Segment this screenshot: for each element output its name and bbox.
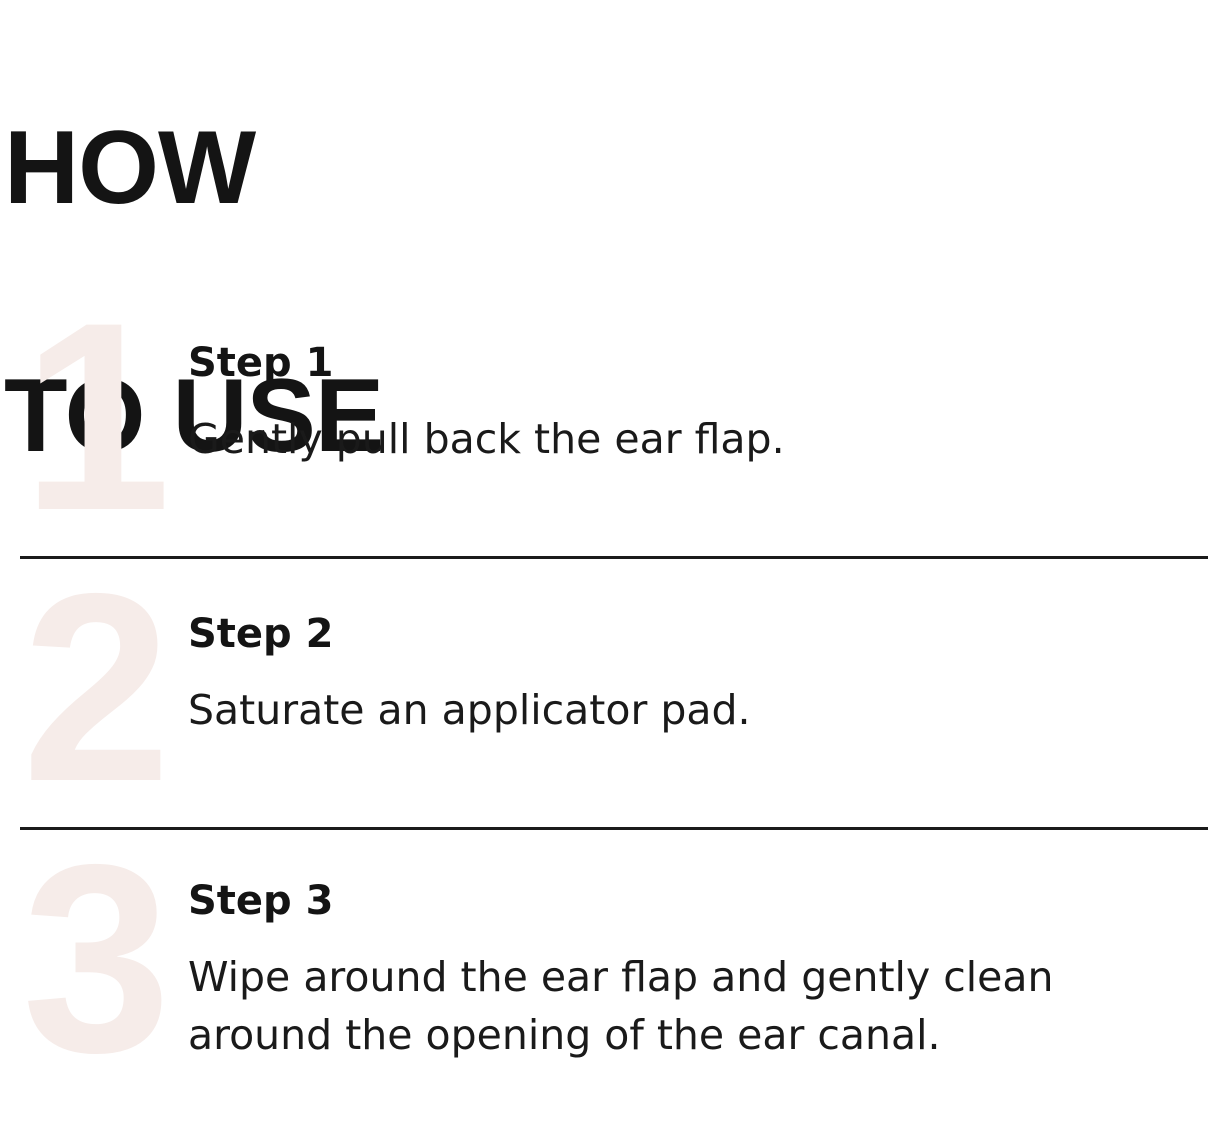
step-content: Step 2 Saturate an applicator pad. [188, 559, 1214, 739]
step-title: Step 1 [188, 340, 1214, 386]
step-content: Step 1 Gently pull back the ear flap. [188, 288, 1214, 468]
step-title: Step 3 [188, 878, 1214, 924]
list-item: 3 Step 3 Wipe around the ear flap and ge… [0, 830, 1214, 1080]
steps-list: 1 Step 1 Gently pull back the ear flap. … [0, 288, 1214, 1080]
how-to-use-panel: HOW TO USE 1 Step 1 Gently pull back the… [0, 0, 1214, 1139]
step-description: Saturate an applicator pad. [188, 681, 1188, 739]
step-number-watermark: 2 [22, 553, 172, 821]
step-content: Step 3 Wipe around the ear flap and gent… [188, 830, 1214, 1064]
step-number-watermark: 3 [22, 824, 172, 1092]
step-number-watermark: 1 [22, 282, 172, 550]
step-description: Gently pull back the ear flap. [188, 410, 1188, 468]
step-description: Wipe around the ear flap and gently clea… [188, 948, 1188, 1064]
step-title: Step 2 [188, 611, 1214, 657]
list-item: 1 Step 1 Gently pull back the ear flap. [0, 288, 1214, 556]
page-title-line-1: HOW [4, 106, 1104, 230]
list-item: 2 Step 2 Saturate an applicator pad. [0, 559, 1214, 827]
